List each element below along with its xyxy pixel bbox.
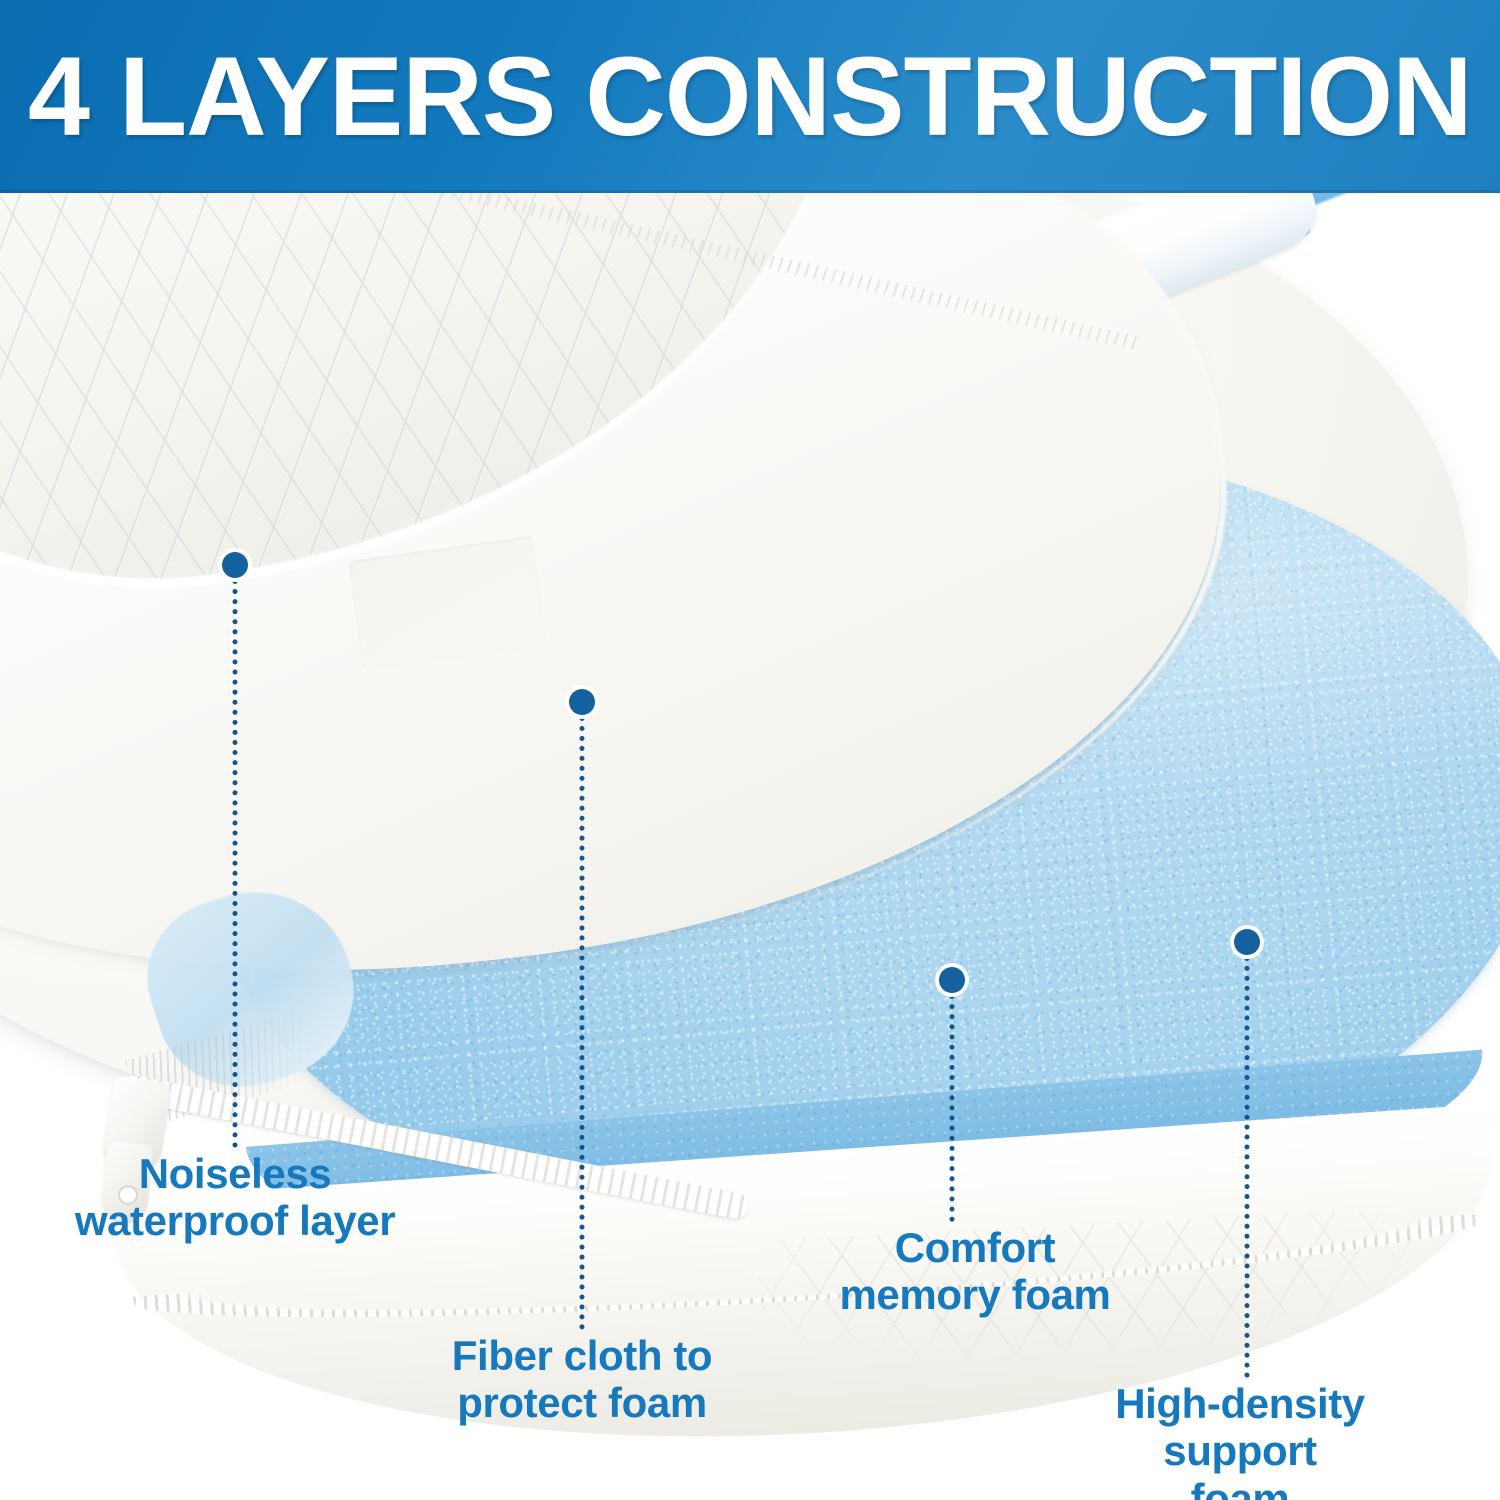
- callout-leader-line-comfort-memory-foam: [950, 994, 955, 1222]
- callout-leader-line-high-density-support-foam: [1245, 956, 1250, 1378]
- callout-leader-line-noiseless-waterproof-layer: [233, 579, 238, 1148]
- callout-dot-high-density-support-foam[interactable]: [1234, 929, 1260, 955]
- product-photo: [0, 193, 1500, 1500]
- callout-label-high-density-support-foam: High-density support foam: [1110, 1380, 1370, 1500]
- callout-dot-comfort-memory-foam[interactable]: [939, 967, 965, 993]
- infographic-page: 4 LAYERS CONSTRUCTION: [0, 0, 1500, 1500]
- callout-dot-noiseless-waterproof-layer[interactable]: [222, 552, 248, 578]
- header-banner: 4 LAYERS CONSTRUCTION: [0, 0, 1500, 193]
- callout-dot-fiber-cloth-to-protect-foam[interactable]: [569, 689, 595, 715]
- callout-label-noiseless-waterproof-layer: Noiseless waterproof layer: [75, 1150, 395, 1245]
- page-title: 4 LAYERS CONSTRUCTION: [28, 41, 1472, 153]
- callout-label-fiber-cloth-to-protect-foam: Fiber cloth to protect foam: [452, 1332, 712, 1427]
- callout-label-comfort-memory-foam: Comfort memory foam: [839, 1224, 1110, 1319]
- callout-leader-line-fiber-cloth-to-protect-foam: [580, 716, 585, 1330]
